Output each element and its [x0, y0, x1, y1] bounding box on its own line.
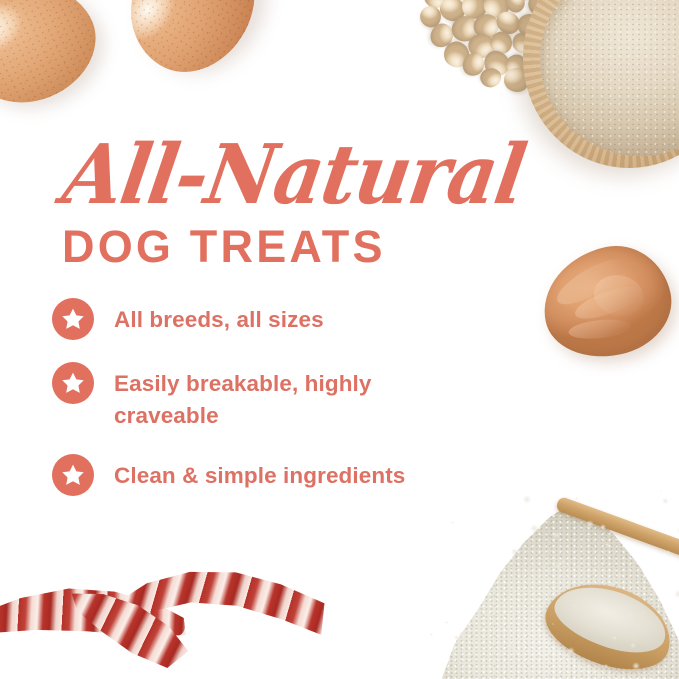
flour-dust-speck	[507, 642, 516, 651]
raw-bacon-strips-icon	[0, 556, 308, 668]
flour-dust-speck	[430, 633, 433, 636]
feature-list: All breeds, all sizes Easily breakable, …	[52, 298, 472, 496]
flour-dust-speck	[660, 490, 662, 492]
headline-script-line: All-Natural	[58, 134, 530, 216]
flour-dust-speck	[458, 631, 466, 639]
peanut-butter-ridge	[568, 317, 632, 341]
flour-dust-speck	[612, 636, 617, 641]
product-feature-graphic: All-Natural DOG TREATS All breeds, all s…	[0, 0, 679, 679]
flour-dust-speck	[617, 573, 622, 578]
flour-dust-speck	[451, 521, 454, 524]
feature-label: Easily breakable, highly craveable	[114, 362, 432, 432]
egg-speckle-texture	[106, 0, 278, 94]
flour-dust-speck	[530, 524, 539, 533]
flour-dust-speck	[445, 621, 448, 624]
flour-dust-speck	[632, 662, 640, 670]
flour-dust-speck	[609, 582, 613, 586]
flour-dust-speck	[523, 495, 532, 504]
flour-dust-speck	[600, 524, 606, 530]
brown-egg-left-icon	[0, 0, 114, 123]
feature-item: All breeds, all sizes	[52, 298, 472, 340]
flour-dust-speck	[499, 649, 503, 653]
star-badge-icon	[52, 454, 94, 496]
flour-dust-speck	[662, 498, 668, 504]
egg-speckle-texture	[0, 0, 114, 123]
brown-egg-right-icon	[106, 0, 278, 94]
flour-dust-speck	[643, 611, 645, 613]
feature-label: Clean & simple ingredients	[114, 454, 405, 492]
feature-item: Easily breakable, highly craveable	[52, 362, 472, 432]
flour-dust-speck	[567, 647, 575, 655]
flour-dust-speck	[553, 531, 560, 538]
star-badge-icon	[52, 362, 94, 404]
flour-dust-speck	[667, 550, 670, 553]
flour-dust-speck	[512, 617, 517, 622]
flour-dust-speck	[552, 623, 554, 625]
flour-dust-speck	[573, 604, 576, 607]
headline-sub-line: DOG TREATS	[62, 224, 386, 269]
feature-label: All breeds, all sizes	[114, 298, 324, 336]
flour-dust-speck	[515, 652, 517, 654]
feature-item: Clean & simple ingredients	[52, 454, 472, 496]
flour-dust-speck	[674, 590, 679, 599]
peanut-butter-swirl-icon	[533, 236, 679, 368]
flour-dust-speck	[605, 543, 609, 547]
flour-dust-speck	[575, 497, 578, 500]
star-badge-icon	[52, 298, 94, 340]
flour-dust-speck	[560, 560, 565, 565]
flour-dust-speck	[586, 520, 594, 528]
wooden-bowl-of-flour-icon	[523, 0, 679, 168]
